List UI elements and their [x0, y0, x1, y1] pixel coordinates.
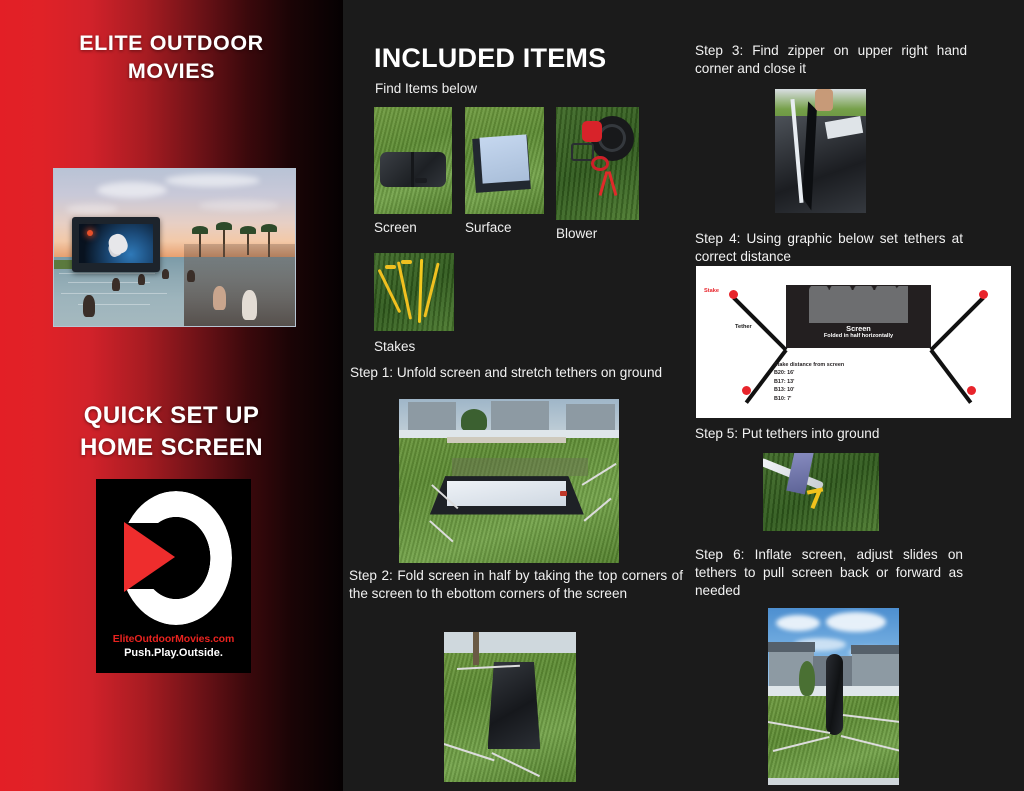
hero-person [112, 278, 120, 291]
step-5-photo [763, 453, 879, 531]
folded-inflating-screen [826, 654, 843, 735]
diagram-distance-b13: B13: 10' [774, 386, 844, 394]
left-brand-panel: ELITE OUTDOOR MOVIES [0, 0, 343, 791]
item-photo-stakes [374, 253, 454, 331]
logo-play-c-icon [112, 489, 235, 629]
step-3-text: Step 3: Find zipper on upper right hand … [695, 42, 967, 78]
item-label-stakes: Stakes [374, 339, 415, 354]
hero-ripple [61, 293, 167, 294]
concrete-pad [447, 437, 566, 444]
fence-background [444, 632, 576, 653]
surface-white-fabric [479, 134, 529, 183]
item-label-surface: Surface [465, 220, 512, 235]
logo-play-triangle-icon [124, 522, 175, 592]
setup-title: QUICK SET UP HOME SCREEN [0, 400, 343, 464]
diagram-distance-block: Stake distance from screen B20: 16' B17:… [774, 361, 844, 403]
step-4-text: Step 4: Using graphic below set tethers … [695, 230, 963, 266]
step-1-photo [399, 399, 619, 563]
diagram-stake-label: Stake [704, 288, 719, 294]
tree [799, 661, 815, 696]
cloud [826, 612, 886, 632]
included-items-column: INCLUDED ITEMS Find Items below Screen S… [343, 0, 691, 791]
item-photo-surface [465, 107, 544, 214]
diagram-distance-title: Stake distance from screen [774, 361, 844, 369]
setup-title-line1: QUICK SET UP [0, 400, 343, 432]
hero-person [162, 269, 169, 279]
item-label-blower: Blower [556, 226, 597, 241]
blower-handle [571, 143, 594, 161]
step-6-text: Step 6: Inflate screen, adjust slides on… [695, 546, 963, 599]
included-items-heading: INCLUDED ITEMS [374, 43, 606, 74]
setup-title-line2: HOME SCREEN [0, 432, 343, 464]
step-2-text: Step 2: Fold screen in half by taking th… [349, 567, 683, 603]
diagram-stake-bottom-left [742, 386, 751, 395]
brand-patch [560, 491, 567, 496]
item-photo-screen [374, 107, 452, 214]
folded-screen-black [488, 662, 541, 749]
screen-white-surface [447, 481, 566, 506]
hero-person [138, 274, 145, 285]
steps-column: Step 3: Find zipper on upper right hand … [691, 0, 1024, 791]
diagram-tether-upper-right [930, 296, 985, 351]
diagram-stake-top-right [979, 290, 988, 299]
step-1-text: Step 1: Unfold screen and stretch tether… [350, 364, 682, 382]
tree-trunk [473, 632, 479, 665]
diagram-tether-label: Tether [735, 324, 752, 330]
diagram-stake-top-left [729, 290, 738, 299]
diagram-distance-b17: B17: 13' [774, 378, 844, 386]
step-5-text: Step 5: Put tethers into ground [695, 425, 935, 443]
house [408, 402, 456, 430]
roof-left [768, 642, 815, 653]
brand-title-line1: ELITE OUTDOOR [0, 30, 343, 58]
stake-hook [401, 260, 411, 264]
cloud [776, 615, 820, 631]
step-2-photo [444, 632, 576, 782]
diagram-tether-lower-right [929, 349, 972, 404]
hero-photo-pool-movie [53, 168, 296, 327]
poster-root: ELITE OUTDOOR MOVIES [0, 0, 1024, 791]
item-label-screen: Screen [374, 220, 417, 235]
roof-right [851, 645, 899, 654]
logo-website-text: EliteOutdoorMovies.com [96, 633, 251, 645]
hero-screen-image [79, 224, 153, 263]
diagram-screen-sublabel: Folded in half horizontally [786, 333, 931, 339]
hand [815, 89, 833, 111]
diagram-screen-label: Screen [786, 324, 931, 333]
hero-sun-icon [87, 230, 93, 236]
diagram-stake-bottom-right [967, 386, 976, 395]
hero-astronaut [106, 231, 130, 256]
item-photo-blower [556, 107, 639, 220]
step-3-photo [775, 89, 866, 213]
hero-person [213, 286, 226, 310]
tree [461, 409, 487, 432]
step-6-photo [768, 608, 899, 785]
bag-buckle [415, 178, 427, 183]
diagram-distance-b20: B20: 16' [774, 369, 844, 377]
hero-cloud [66, 204, 118, 214]
step-4-tether-diagram: Screen Folded in half horizontally Stake… [696, 266, 1011, 418]
find-items-subheading: Find Items below [375, 81, 477, 96]
hero-person [242, 290, 257, 320]
sidewalk [768, 778, 899, 785]
diagram-screen-wave [809, 286, 908, 293]
hero-inflatable-screen [72, 217, 160, 272]
dirt-patch [452, 458, 588, 476]
hero-person [83, 295, 95, 317]
house [491, 401, 548, 431]
hero-cloud [165, 174, 260, 187]
diagram-screen-fill [809, 290, 908, 323]
hero-crowd [184, 244, 295, 326]
brand-logo: EliteOutdoorMovies.com Push.Play.Outside… [96, 479, 251, 673]
diagram-distance-b10: B10: 7' [774, 395, 844, 403]
brand-title-line2: MOVIES [0, 58, 343, 86]
blower-motor-red [582, 121, 602, 142]
house [566, 404, 614, 430]
hero-cloud [97, 182, 167, 198]
brand-title: ELITE OUTDOOR MOVIES [0, 30, 343, 85]
stake-hook [385, 265, 396, 269]
logo-tagline-text: Push.Play.Outside. [96, 647, 251, 659]
hero-person [187, 270, 195, 282]
blower-fan-ring [598, 124, 626, 152]
bag-strap [411, 152, 414, 187]
